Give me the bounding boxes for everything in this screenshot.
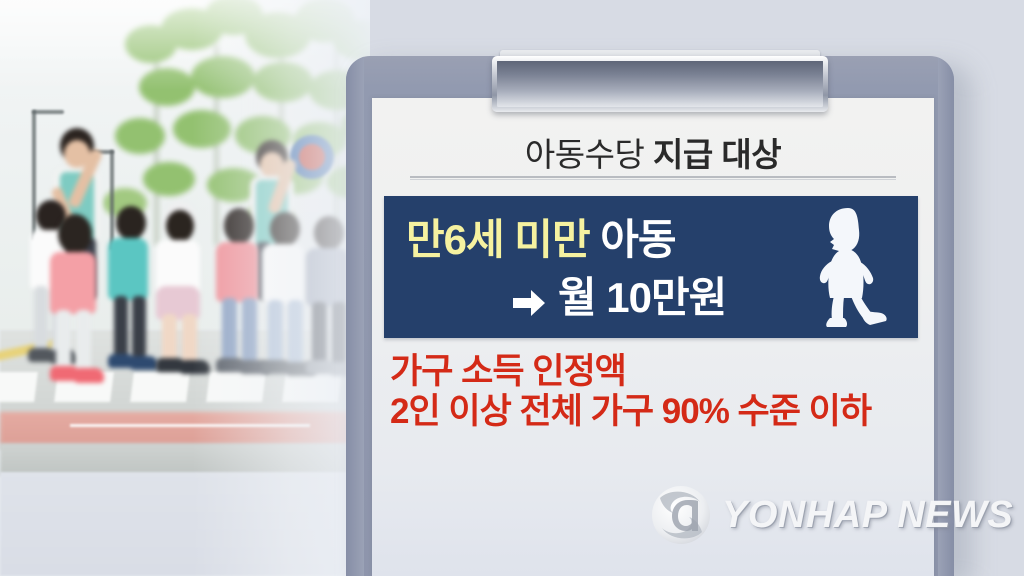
clipboard-left-edge xyxy=(346,56,364,576)
highlight-age-text: 만6세 미만 xyxy=(406,216,590,263)
yonhap-news-logo: YONHAP NEWS xyxy=(648,484,1013,546)
walking-child-silhouette-icon xyxy=(810,204,896,332)
condition-line-1: 가구 소득 인정액 xyxy=(390,352,930,392)
condition-line-2: 2인 이상 전체 가구 90% 수준 이하 xyxy=(390,392,930,432)
infographic-canvas: CHART 아동수당 지급 대상 만6세 미만 아동 월 10만원 xyxy=(0,0,1024,576)
clipboard-clip-inner xyxy=(497,61,823,107)
right-arrow-icon xyxy=(512,280,546,310)
page-title-bold: 지급 대상 xyxy=(644,136,781,173)
background-photo xyxy=(0,0,370,576)
photo-edge-fade xyxy=(0,0,370,576)
page-title: 아동수당 지급 대상 xyxy=(372,128,934,176)
title-divider xyxy=(410,176,896,180)
highlight-panel: 만6세 미만 아동 월 10만원 xyxy=(384,196,918,338)
highlight-line-1: 만6세 미만 아동 xyxy=(406,206,676,267)
highlight-amount-text: 월 10만원 xyxy=(558,264,726,325)
condition-text: 가구 소득 인정액 2인 이상 전체 가구 90% 수준 이하 xyxy=(390,352,930,432)
highlight-line-2: 월 10만원 xyxy=(512,264,726,325)
highlight-child-text: 아동 xyxy=(590,216,676,263)
page-title-light: 아동수당 xyxy=(525,136,644,173)
clipboard-clip-icon xyxy=(492,56,828,112)
yonhap-swirl-icon xyxy=(648,484,714,546)
yonhap-news-wordmark: YONHAP NEWS xyxy=(722,494,1013,537)
